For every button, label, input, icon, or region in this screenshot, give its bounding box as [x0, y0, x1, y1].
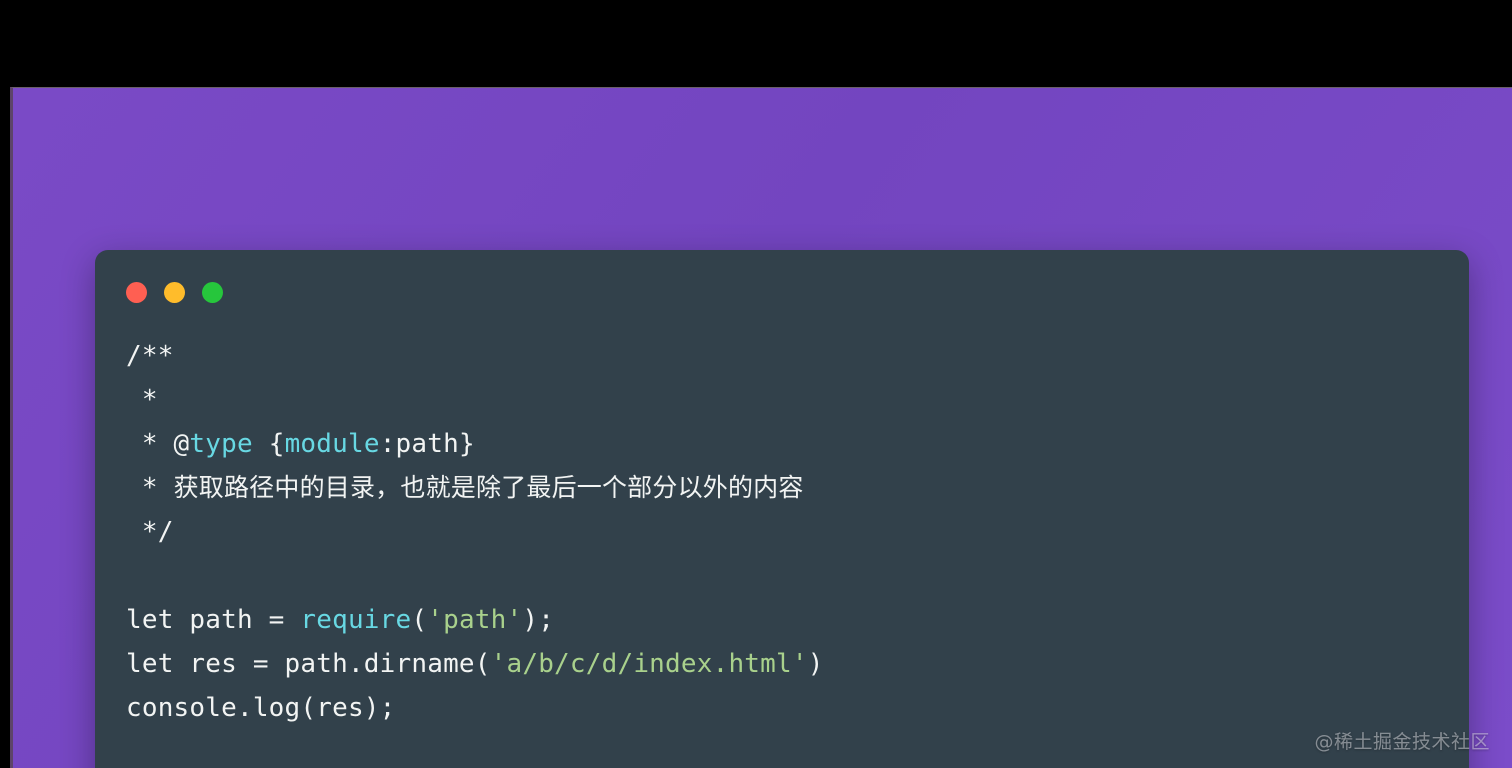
code-token-keyword: require: [300, 605, 411, 635]
close-icon[interactable]: [126, 282, 147, 303]
code-line: * @type {module:path}: [126, 422, 1469, 466]
code-token-plain: console.log(res);: [126, 693, 396, 723]
maximize-icon[interactable]: [202, 282, 223, 303]
code-token-plain: *: [126, 473, 174, 503]
code-token-plain: *: [126, 385, 158, 415]
minimize-icon[interactable]: [164, 282, 185, 303]
code-token-plain: */: [126, 517, 174, 547]
code-line: let path = require('path');: [126, 598, 1469, 642]
code-token-cn: 获取路径中的目录，也就是除了最后一个部分以外的内容: [174, 473, 804, 502]
code-line: console.log(res);: [126, 686, 1469, 730]
code-token-plain: * @: [126, 429, 189, 459]
code-token-keyword: type: [189, 429, 252, 459]
code-line: /**: [126, 334, 1469, 378]
code-token-string: 'path': [427, 605, 522, 635]
code-line: */: [126, 510, 1469, 554]
code-line: let res = path.dirname('a/b/c/d/index.ht…: [126, 642, 1469, 686]
code-token-plain: {: [253, 429, 285, 459]
page-backdrop: /** * * @type {module:path} * 获取路径中的目录，也…: [10, 87, 1512, 768]
code-token-keyword: module: [285, 429, 380, 459]
watermark-label: @稀土掘金技术社区: [1314, 727, 1490, 754]
code-token-plain: :path}: [380, 429, 475, 459]
screenshot-root: /** * * @type {module:path} * 获取路径中的目录，也…: [0, 0, 1512, 768]
code-token-plain: let res = path.dirname(: [126, 649, 491, 679]
code-line: * 获取路径中的目录，也就是除了最后一个部分以外的内容: [126, 466, 1469, 510]
code-block[interactable]: /** * * @type {module:path} * 获取路径中的目录，也…: [95, 334, 1469, 730]
code-card: /** * * @type {module:path} * 获取路径中的目录，也…: [95, 250, 1469, 768]
code-token-string: 'a/b/c/d/index.html': [491, 649, 808, 679]
code-token-plain: /**: [126, 341, 174, 371]
code-token-plain: );: [522, 605, 554, 635]
code-token-plain: (: [411, 605, 427, 635]
code-line: *: [126, 378, 1469, 422]
window-titlebar: [95, 250, 1469, 334]
code-token-plain: ): [808, 649, 824, 679]
code-line: [126, 554, 1469, 598]
code-token-plain: let path =: [126, 605, 300, 635]
